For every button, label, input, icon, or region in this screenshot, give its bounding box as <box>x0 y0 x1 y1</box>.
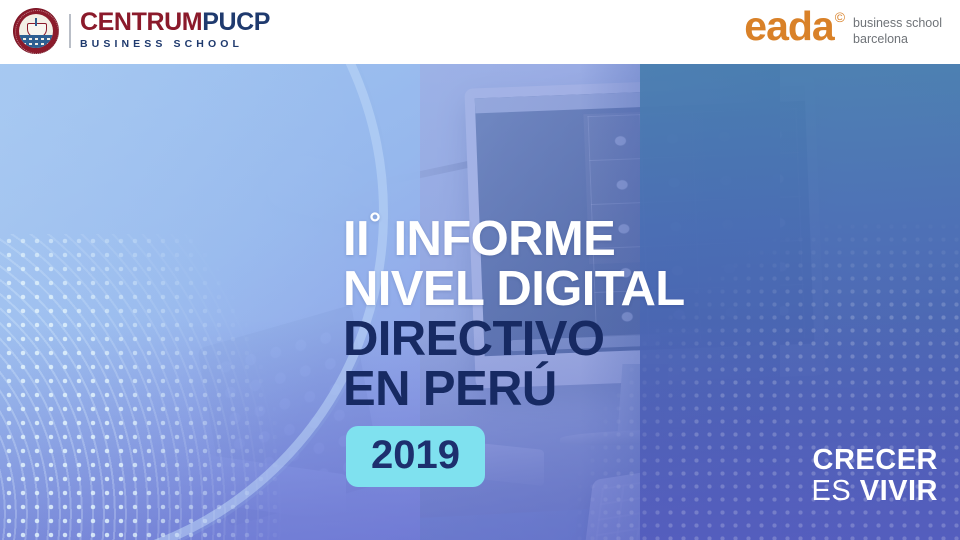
tagline-vivir: VIVIR <box>860 475 938 507</box>
eada-subtitle: business school barcelona <box>853 15 942 47</box>
header-bar: CENTRUMPUCP BUSINESS SCHOOL eada © busin… <box>0 0 960 64</box>
degree-icon: ° <box>369 207 380 240</box>
eada-wordmark: eada <box>744 7 833 46</box>
brand-pucp: PUCP <box>202 8 270 36</box>
title-line-4: EN PERÚ <box>343 364 685 414</box>
centrum-business-school-label: BUSINESS SCHOOL <box>80 38 270 52</box>
tagline-block: CRECER ES VIVIR <box>812 445 939 507</box>
tagline-line-2: ES VIVIR <box>812 475 939 507</box>
centrum-pucp-brand: CENTRUMPUCP <box>80 10 270 36</box>
year-badge: 2019 <box>346 426 485 487</box>
hero-title-block: II° INFORME NIVEL DIGITAL DIRECTIVO EN P… <box>343 214 685 487</box>
eada-subtitle-line1: business school <box>853 16 942 30</box>
tagline-es: ES <box>812 475 860 507</box>
title-line-1-main: INFORME <box>393 212 615 266</box>
title-line-1: II° INFORME <box>343 214 685 264</box>
centrum-pucp-crest-icon <box>14 9 58 53</box>
brand-centrum: CENTRUM <box>80 8 202 36</box>
title-line-2: NIVEL DIGITAL <box>343 264 685 314</box>
hero-stage: II° INFORME NIVEL DIGITAL DIRECTIVO EN P… <box>0 64 960 540</box>
eada-subtitle-line2: barcelona <box>853 32 908 46</box>
centrum-pucp-wordmark: CENTRUMPUCP BUSINESS SCHOOL <box>80 10 270 51</box>
crest-ring <box>15 10 59 54</box>
title-line-1-prefix: II <box>343 212 369 266</box>
logo-divider <box>69 14 71 48</box>
title-line-3: DIRECTIVO <box>343 314 685 364</box>
presentation-slide: CENTRUMPUCP BUSINESS SCHOOL eada © busin… <box>0 0 960 540</box>
copyright-icon: © <box>835 10 845 24</box>
centrum-pucp-logo[interactable]: CENTRUMPUCP BUSINESS SCHOOL <box>14 6 270 56</box>
tagline-line-1: CRECER <box>812 445 939 475</box>
eada-logo[interactable]: eada © business school barcelona <box>744 7 942 53</box>
